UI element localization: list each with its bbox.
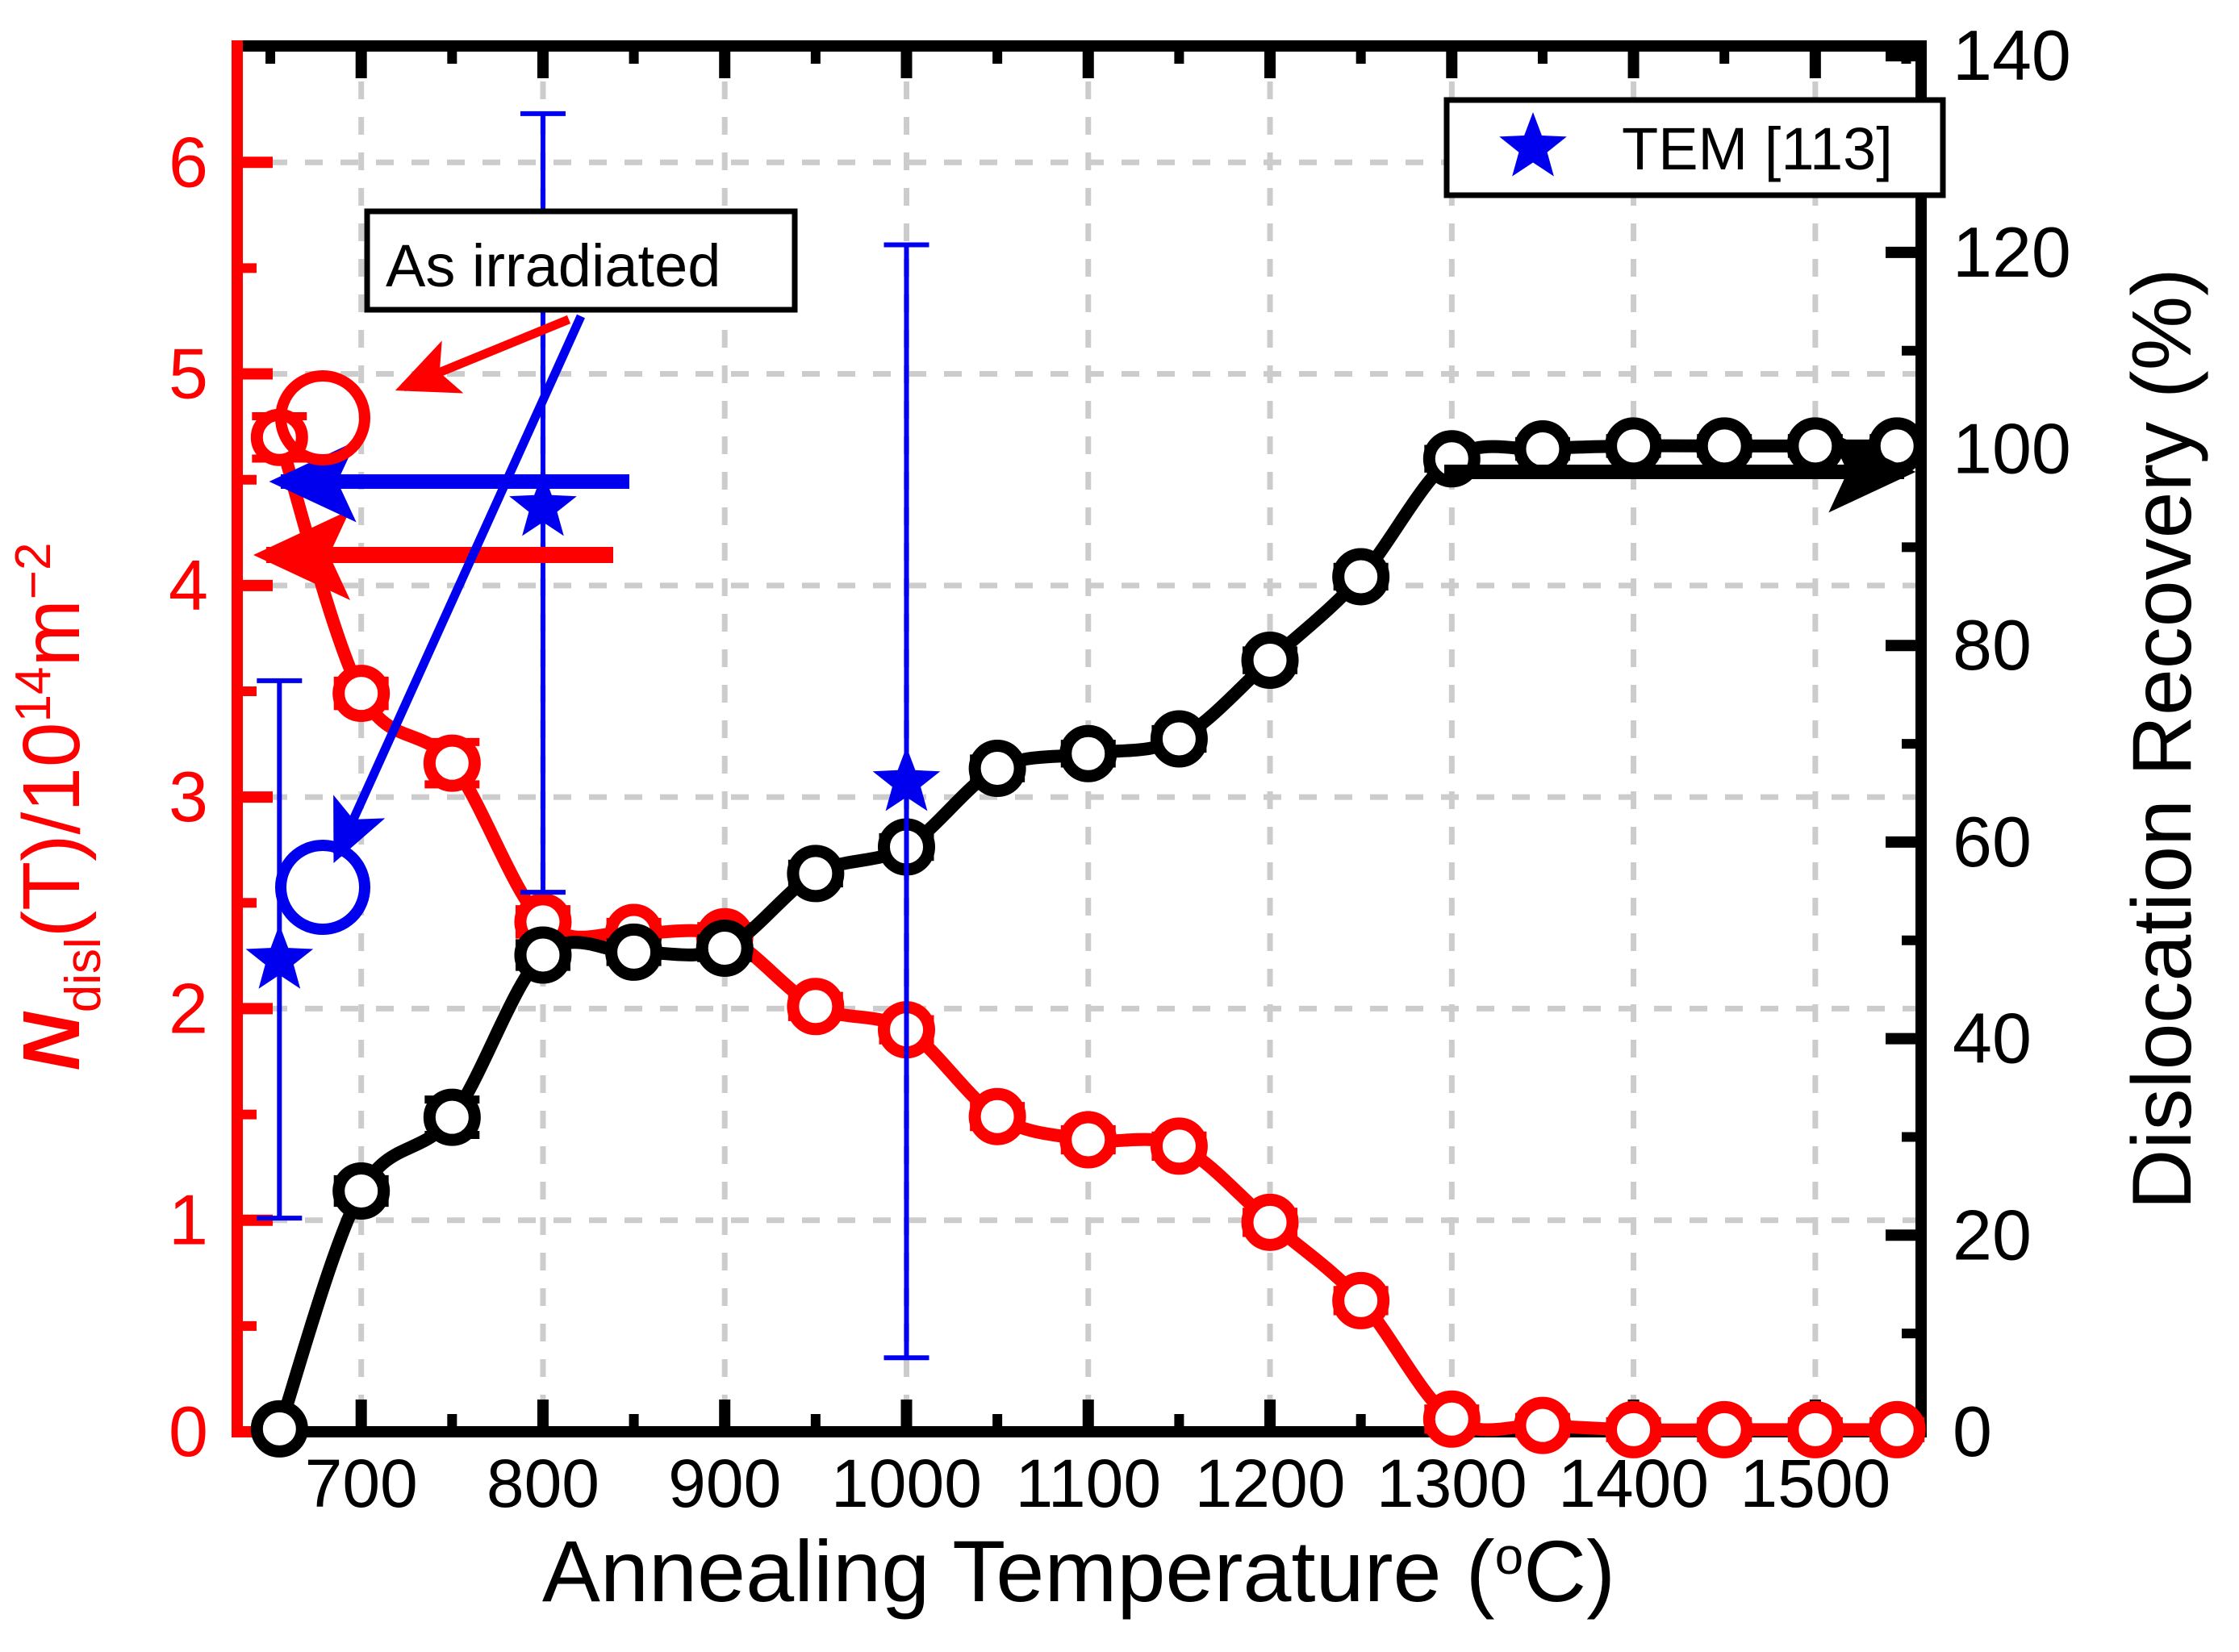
- error-bars: [252, 416, 1924, 1438]
- x-tick-label: 800: [487, 1445, 599, 1521]
- y-right-tick-label: 40: [1953, 999, 2032, 1078]
- data-point-circle: [1247, 1199, 1293, 1245]
- x-tick-label: 1000: [831, 1445, 982, 1521]
- data-point-circle: [1066, 731, 1111, 776]
- blue-circle-highlight: [281, 845, 365, 929]
- data-point-circle: [1793, 1407, 1838, 1452]
- data-point-circle: [1611, 423, 1656, 469]
- data-point-circle: [339, 1168, 384, 1213]
- data-point-circle: [1874, 1407, 1919, 1452]
- data-point-circle: [1066, 1117, 1111, 1162]
- y-right-tick-label: 80: [1953, 605, 2032, 685]
- data-point-circle: [1520, 1403, 1565, 1448]
- y-left-tick-label: 3: [169, 757, 208, 836]
- data-point-circle: [339, 671, 384, 716]
- x-tick-labels: 700800900100011001200130014001500: [305, 1445, 1891, 1521]
- data-point-circle: [1702, 423, 1747, 469]
- x-tick-label: 700: [305, 1445, 418, 1521]
- data-point-circle: [1156, 1124, 1201, 1169]
- x-tick-label: 900: [668, 1445, 781, 1521]
- data-point-circle: [520, 932, 566, 978]
- y-left-axis-title: Ndisl(T)/1014m−2: [6, 543, 111, 1071]
- y-right-tick-label: 140: [1953, 15, 2071, 95]
- as-irradiated-label: As irradiated: [386, 232, 721, 299]
- x-tick-label: 1200: [1195, 1445, 1346, 1521]
- y-right-tick-label: 20: [1953, 1195, 2032, 1274]
- x-tick-label: 1300: [1376, 1445, 1527, 1521]
- y-left-tick-label: 1: [169, 1180, 208, 1260]
- data-point-circle: [257, 1406, 302, 1451]
- y-right-axis-title: Dislocation Recovery (%): [2116, 268, 2209, 1209]
- y-left-tick-labels: 0123456: [169, 122, 208, 1471]
- x-axis-title: Annealing Temperature (oC): [542, 1522, 1615, 1620]
- data-point-circle: [793, 984, 838, 1029]
- chart-canvas: 700800900100011001200130014001500 012345…: [0, 0, 2239, 1652]
- y-right-tick-label: 60: [1953, 802, 2032, 882]
- y-right-tick-label: 0: [1953, 1391, 1992, 1471]
- y-right-tick-label: 120: [1953, 212, 2071, 292]
- data-point-circle: [793, 851, 838, 896]
- data-point-circle: [975, 1094, 1020, 1139]
- data-point-circle: [1611, 1407, 1656, 1452]
- data-point-circle: [429, 1095, 474, 1140]
- data-point-circle: [1874, 423, 1919, 469]
- data-point-circle: [612, 929, 657, 974]
- data-point-circle: [1339, 554, 1384, 599]
- y-left-tick-label: 5: [169, 334, 208, 414]
- data-point-circle: [1339, 1278, 1384, 1323]
- data-point-circle: [1156, 716, 1201, 761]
- data-series: [246, 114, 1925, 1452]
- y-left-tick-label: 0: [169, 1391, 208, 1471]
- data-point-circle: [1429, 1396, 1474, 1441]
- data-point-circle: [975, 746, 1020, 791]
- figure-root: 700800900100011001200130014001500 012345…: [0, 0, 2239, 1652]
- data-point-circle: [1702, 1407, 1747, 1452]
- y-left-tick-label: 6: [169, 122, 208, 202]
- data-point-circle: [1793, 423, 1838, 469]
- legend[interactable]: TEM [113]: [1447, 100, 1943, 195]
- legend-label: TEM [113]: [1622, 115, 1893, 182]
- as-irradiated-callout: As irradiated: [367, 211, 795, 310]
- data-point-circle: [1247, 638, 1293, 683]
- x-tick-label: 1100: [1015, 1445, 1161, 1521]
- data-point-circle: [429, 740, 474, 786]
- y-left-tick-label: 2: [169, 968, 208, 1048]
- y-right-tick-labels: 020406080100120140: [1953, 15, 2071, 1471]
- y-left-tick-label: 4: [169, 545, 208, 625]
- data-point-circle: [702, 926, 747, 971]
- y-right-tick-label: 100: [1953, 409, 2071, 489]
